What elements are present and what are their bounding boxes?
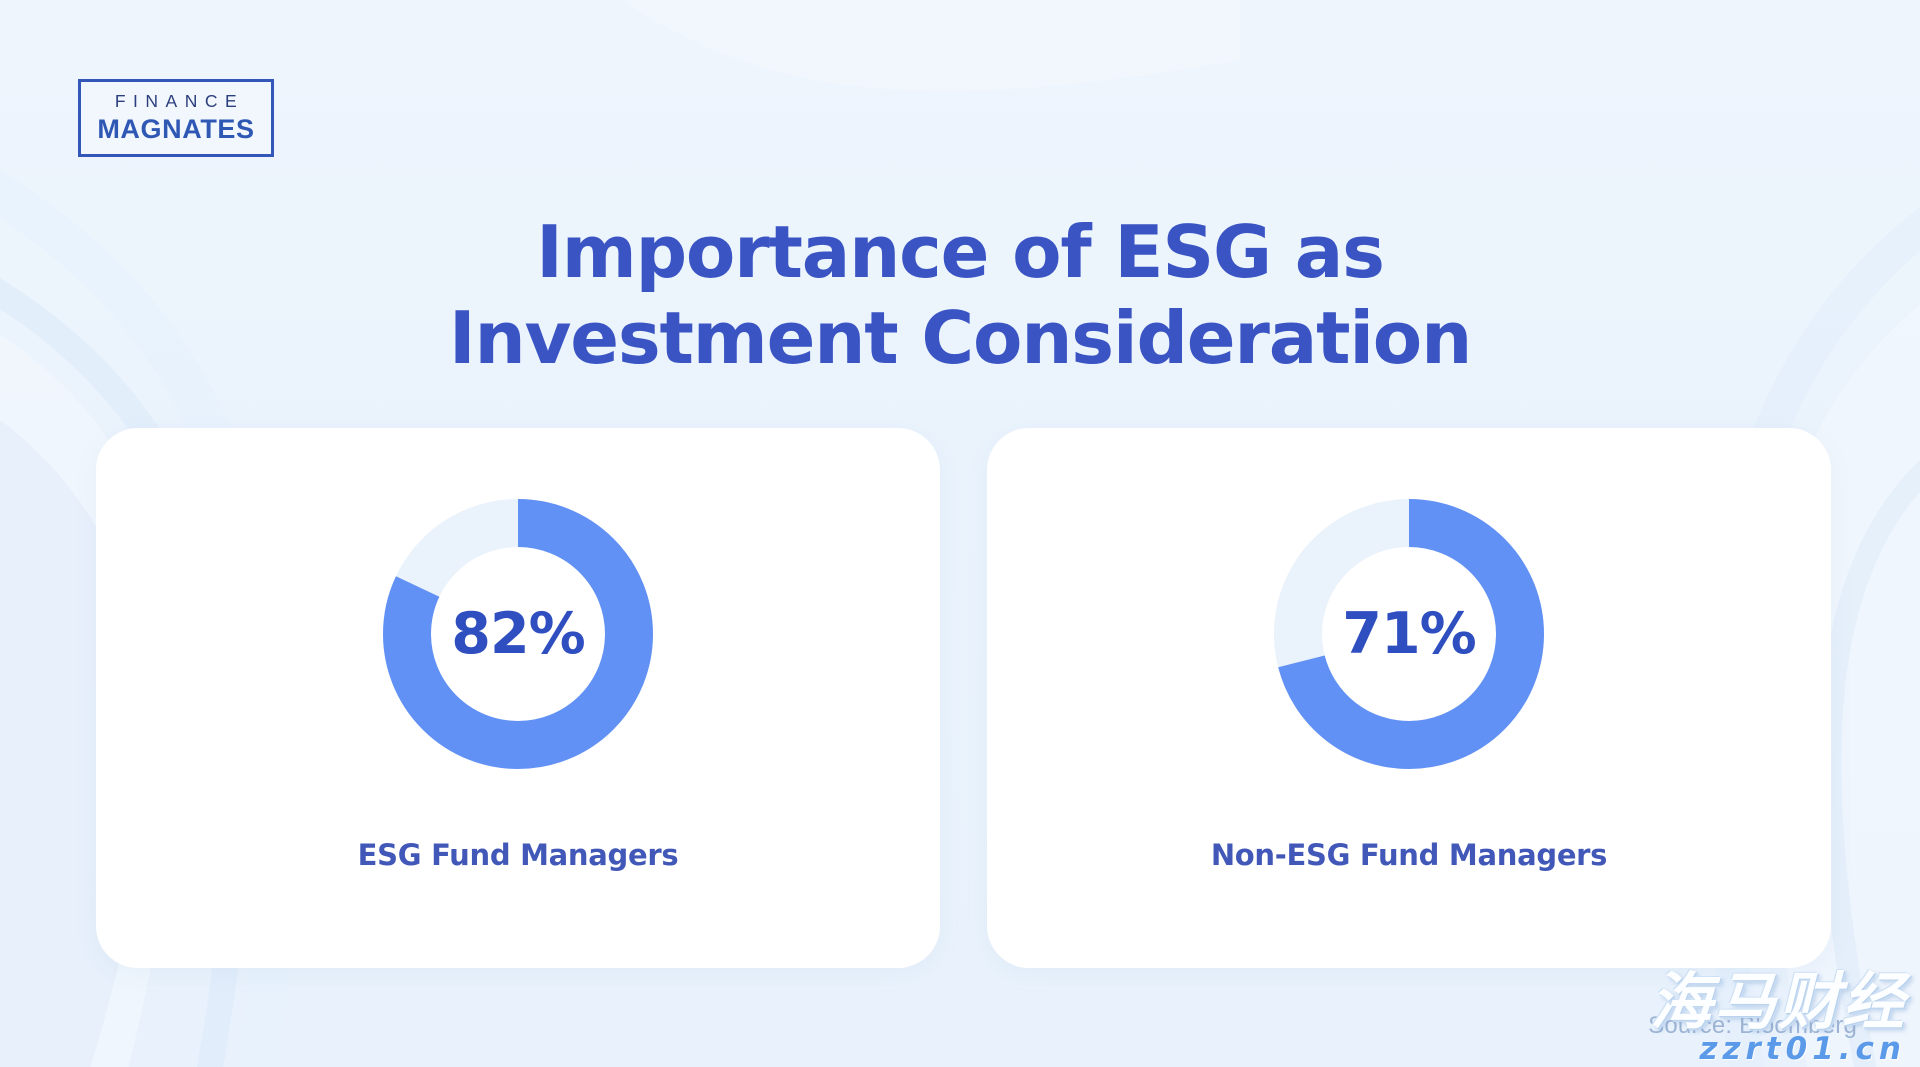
stat-card-group: 82% ESG Fund Managers 71% Non-ESG Fund M… (96, 428, 1831, 968)
page-title-line-1: Importance of ESG as (0, 216, 1920, 288)
donut-value-label: 71% (1273, 498, 1545, 770)
donut-chart-esg-fund-managers: 82% (382, 498, 654, 770)
stat-card-non-esg-fund-managers: 71% Non-ESG Fund Managers (987, 428, 1831, 968)
brand-logo[interactable]: FINANCE MAGNATES (78, 79, 274, 157)
page-title: Importance of ESG as Investment Consider… (0, 216, 1920, 374)
stat-card-esg-fund-managers: 82% ESG Fund Managers (96, 428, 940, 968)
stat-card-label: ESG Fund Managers (358, 838, 679, 872)
donut-value-label: 82% (382, 498, 654, 770)
brand-logo-finance: FINANCE (108, 93, 244, 111)
infographic-canvas: FINANCE MAGNATES Importance of ESG as In… (0, 0, 1920, 1067)
source-attribution: Source: Bloomberg (1648, 1012, 1857, 1040)
donut-chart-non-esg-fund-managers: 71% (1273, 498, 1545, 770)
page-title-line-2: Investment Consideration (0, 302, 1920, 374)
brand-logo-magnates: MAGNATES (97, 116, 254, 143)
stat-card-label: Non-ESG Fund Managers (1211, 838, 1607, 872)
